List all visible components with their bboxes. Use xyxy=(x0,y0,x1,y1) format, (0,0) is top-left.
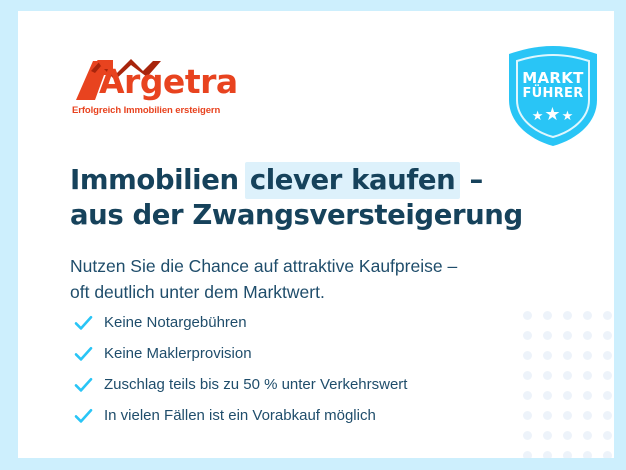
promo-card: Argetra Erfolgreich Immobilien ersteiger… xyxy=(18,11,614,458)
decorative-dot xyxy=(563,391,572,400)
decorative-dot xyxy=(583,431,592,440)
decorative-dot xyxy=(563,311,572,320)
subheadline-line-1: Nutzen Sie die Chance auf attraktive Kau… xyxy=(70,256,457,276)
decorative-dot xyxy=(543,351,552,360)
benefit-item: Zuschlag teils bis zu 50 % unter Verkehr… xyxy=(74,369,534,400)
benefit-label: Keine Notargebühren xyxy=(104,314,247,331)
subheadline-line-2: oft deutlich unter dem Marktwert. xyxy=(70,282,325,302)
benefits-list: Keine NotargebührenKeine Maklerprovision… xyxy=(74,307,534,431)
decorative-dot xyxy=(563,431,572,440)
marktfuehrer-badge: MARKT FÜHRER ★★★ xyxy=(505,44,601,148)
decorative-dot xyxy=(603,331,612,340)
headline-line-2: aus der Zwangsversteigerung xyxy=(70,199,523,231)
benefit-label: In vielen Fällen ist ein Vorabkauf mögli… xyxy=(104,407,376,424)
star-icon: ★ xyxy=(562,108,575,123)
decorative-dot xyxy=(583,371,592,380)
check-icon xyxy=(74,346,104,362)
decorative-dot xyxy=(603,391,612,400)
decorative-dot xyxy=(543,311,552,320)
decorative-dot xyxy=(563,331,572,340)
decorative-dot xyxy=(523,451,532,458)
logo-wordmark: Argetra xyxy=(99,65,238,98)
headline: Immobilien clever kaufen –aus der Zwangs… xyxy=(70,163,540,232)
headline-prefix: Immobilien xyxy=(70,164,248,196)
decorative-dot xyxy=(543,451,552,458)
decorative-dot xyxy=(563,451,572,458)
decorative-dot xyxy=(563,371,572,380)
subheadline: Nutzen Sie die Chance auf attraktive Kau… xyxy=(70,253,550,306)
decorative-dot xyxy=(543,391,552,400)
star-icon: ★ xyxy=(532,108,545,123)
decorative-dot xyxy=(583,311,592,320)
decorative-dot xyxy=(583,391,592,400)
decorative-dot xyxy=(523,431,532,440)
decorative-dot xyxy=(603,451,612,458)
badge-line-2: FÜHRER xyxy=(505,86,601,101)
decorative-dot xyxy=(583,451,592,458)
decorative-dot xyxy=(563,411,572,420)
decorative-dot xyxy=(543,431,552,440)
decorative-dot xyxy=(583,351,592,360)
badge-stars: ★★★ xyxy=(505,104,601,125)
star-icon: ★ xyxy=(544,104,561,124)
check-icon xyxy=(74,408,104,424)
dot-grid-decoration xyxy=(523,311,614,458)
decorative-dot xyxy=(603,411,612,420)
check-icon xyxy=(74,315,104,331)
benefit-item: Keine Maklerprovision xyxy=(74,338,534,369)
logo-tagline: Erfolgreich Immobilien ersteigern xyxy=(72,105,220,116)
benefit-item: Keine Notargebühren xyxy=(74,307,534,338)
decorative-dot xyxy=(603,311,612,320)
benefit-label: Zuschlag teils bis zu 50 % unter Verkehr… xyxy=(104,376,407,393)
argetra-logo[interactable]: Argetra Erfolgreich Immobilien ersteiger… xyxy=(71,55,251,117)
benefit-item: In vielen Fällen ist ein Vorabkauf mögli… xyxy=(74,400,534,431)
decorative-dot xyxy=(543,371,552,380)
decorative-dot xyxy=(543,331,552,340)
decorative-dot xyxy=(583,331,592,340)
badge-line-1: MARKT xyxy=(505,69,601,87)
decorative-dot xyxy=(543,411,552,420)
benefit-label: Keine Maklerprovision xyxy=(104,345,252,362)
decorative-dot xyxy=(603,431,612,440)
decorative-dot xyxy=(603,371,612,380)
decorative-dot xyxy=(603,351,612,360)
check-icon xyxy=(74,377,104,393)
headline-suffix: – xyxy=(460,164,483,196)
headline-highlight: clever kaufen xyxy=(245,162,461,199)
decorative-dot xyxy=(583,411,592,420)
decorative-dot xyxy=(563,351,572,360)
